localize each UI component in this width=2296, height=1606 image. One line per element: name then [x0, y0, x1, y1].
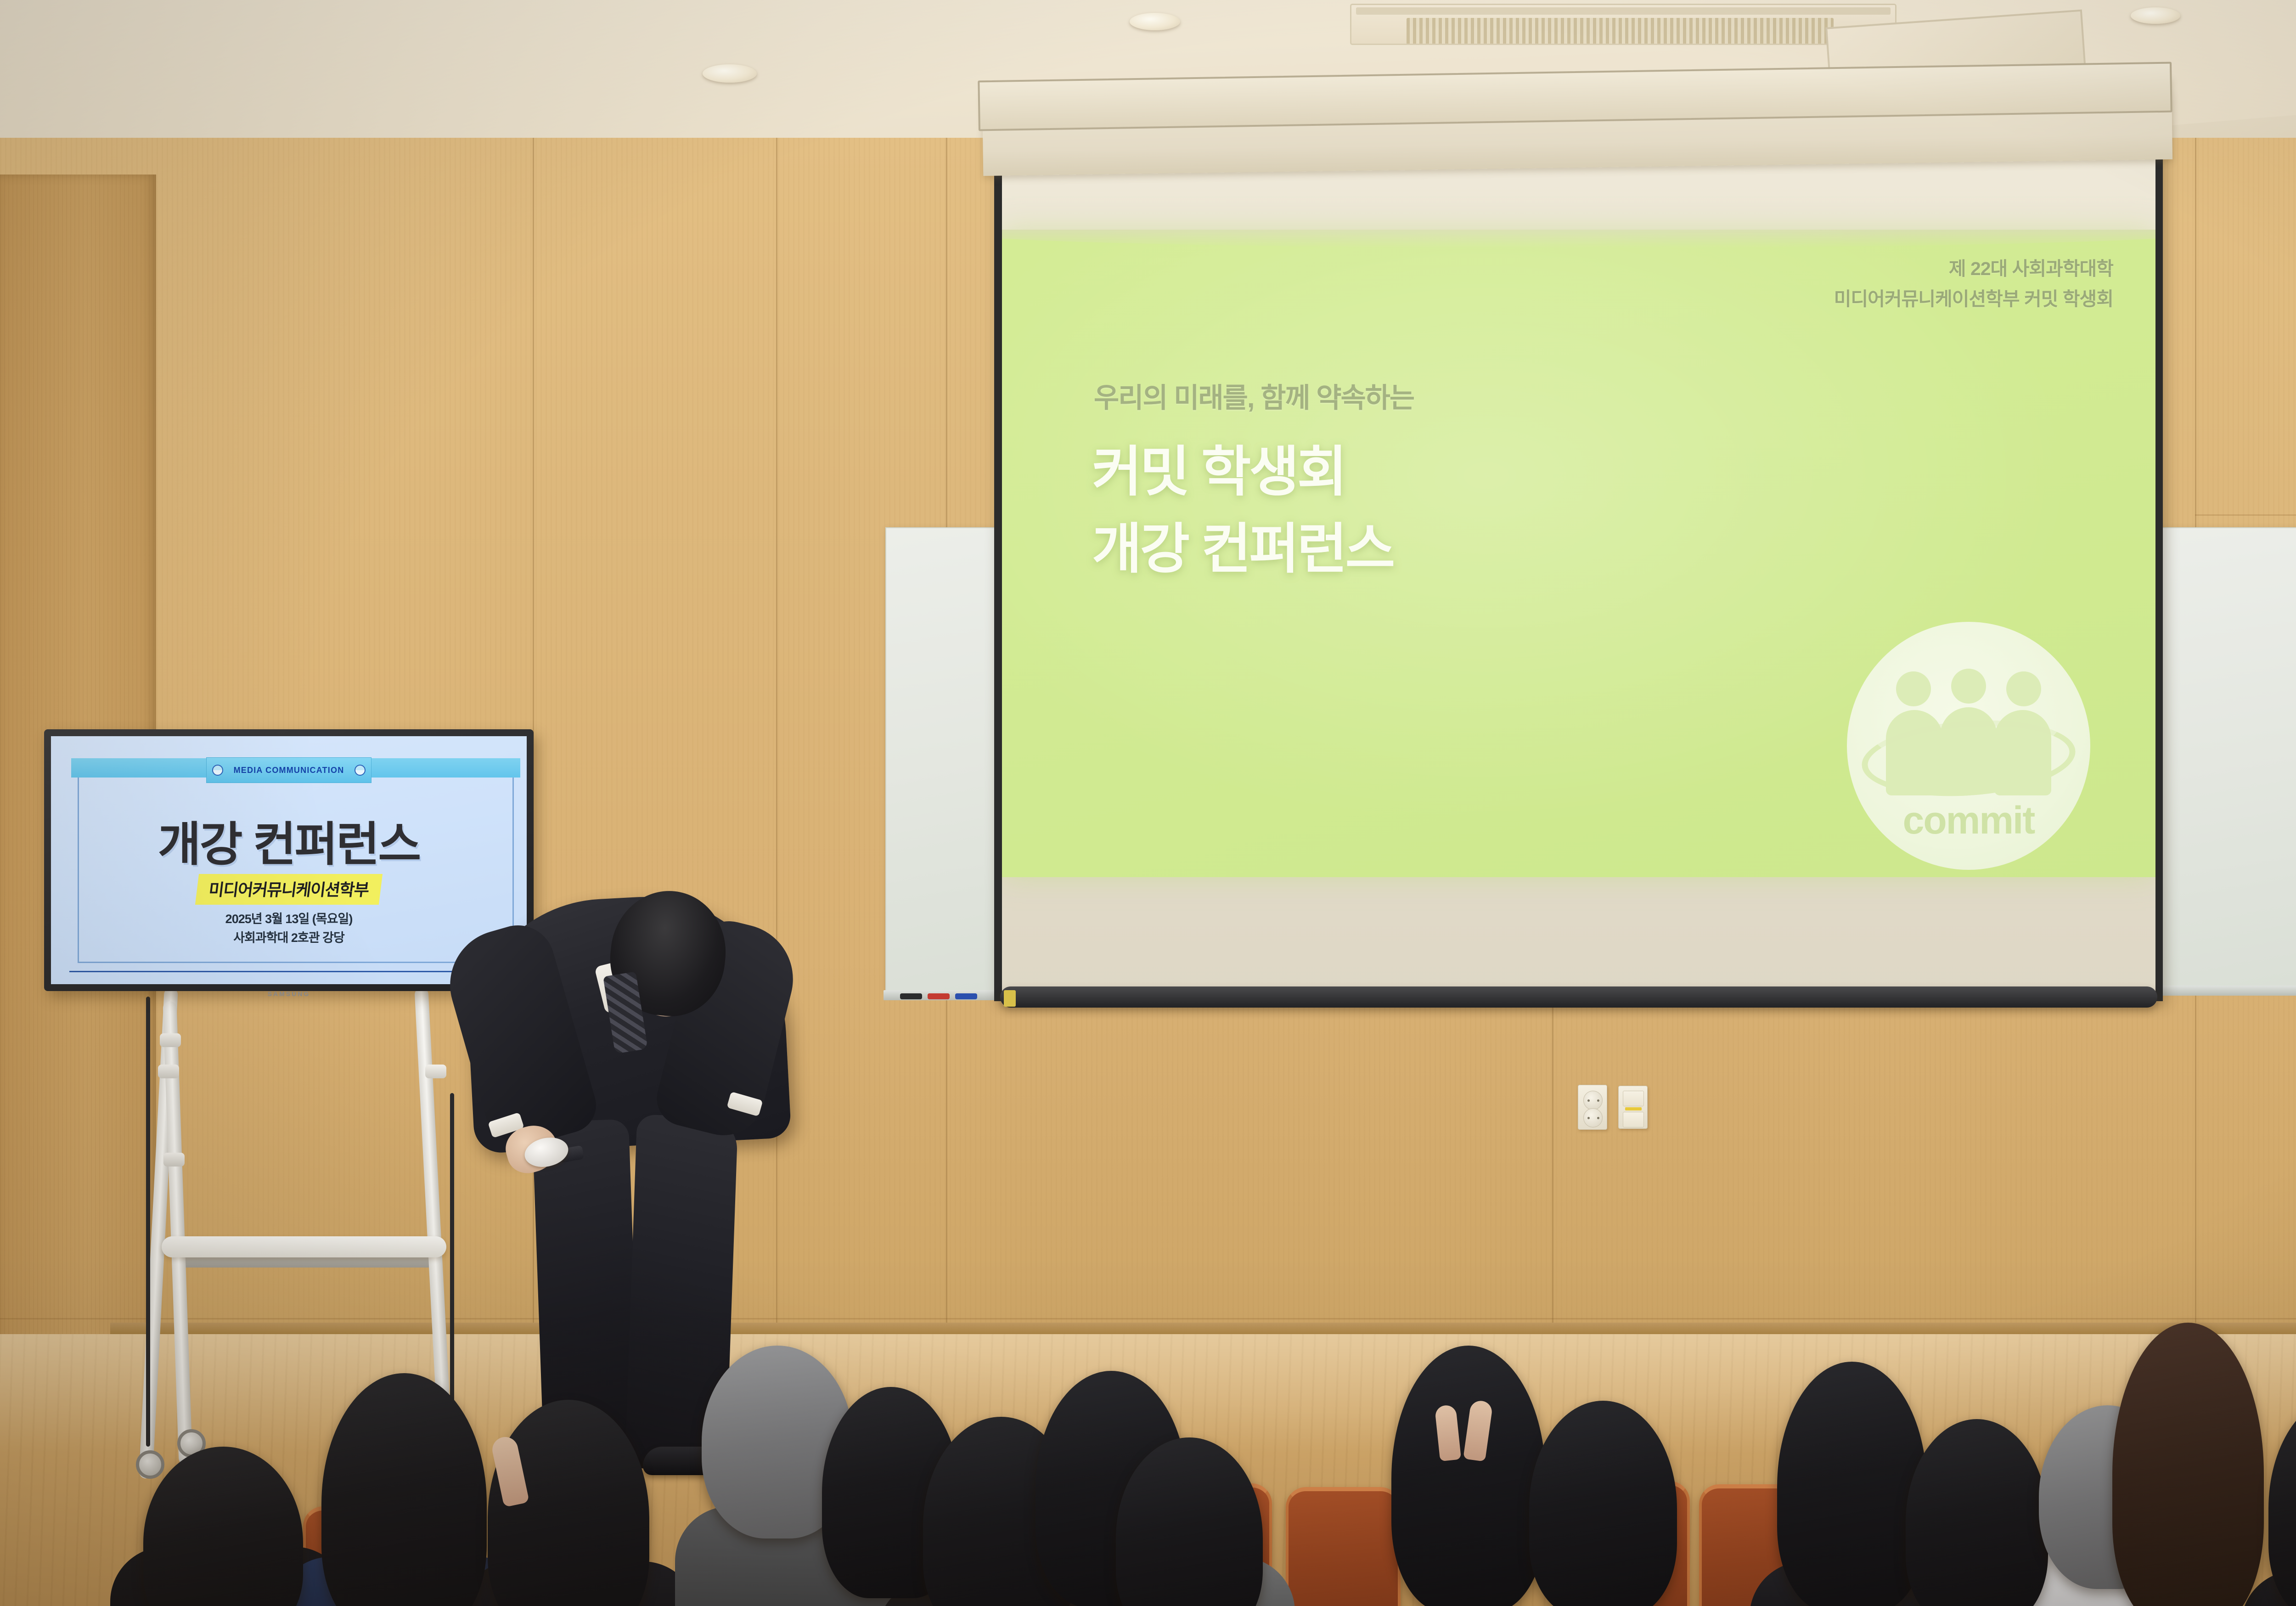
tv-brand-label: SAMSUNG — [268, 990, 310, 997]
downlight-icon — [703, 64, 757, 83]
tv-slide-location: 사회과학대 2호관 강당 — [51, 929, 527, 947]
power-outlet[interactable] — [1578, 1085, 1607, 1130]
ac-grille — [1407, 18, 1834, 45]
marker-icon — [955, 993, 977, 999]
projector-screen-bottom-bar — [1000, 986, 2157, 1008]
cart-caster-wheel — [136, 1450, 164, 1479]
wall-seam — [1552, 978, 1553, 1341]
marker-icon — [900, 993, 922, 999]
tv-monitor[interactable]: MEDIA COMMUNICATION 개강 컨퍼런스 미디어커뮤니케이션학부 … — [44, 729, 534, 991]
switch-key-bottom[interactable] — [1623, 1112, 1644, 1127]
logo-head-icon — [2006, 671, 2041, 706]
commit-logo: commit — [1847, 622, 2090, 870]
wall-seam-horizontal — [0, 1318, 2296, 1319]
projected-slide: 제 22대 사회과학대학 미디어커뮤니케이션학부 커밋 학생회 우리의 미래를,… — [1002, 230, 2155, 877]
cart-cable-clip — [160, 1033, 181, 1047]
tv-slide-department: 미디어커뮤니케이션학부 — [195, 874, 383, 905]
light-switch[interactable] — [1618, 1086, 1648, 1129]
tv-slide-meta: 2025년 3월 13일 (목요일) 사회과학대 2호관 강당 — [51, 910, 527, 947]
power-cable — [450, 1093, 454, 1414]
cart-shelf — [162, 1236, 446, 1257]
whiteboard-right — [2153, 527, 2296, 986]
tv-slide-department-wrap: 미디어커뮤니케이션학부 — [51, 874, 527, 905]
audience-head — [1529, 1401, 1677, 1606]
logo-head-icon — [1951, 669, 1986, 704]
screen-tag-icon — [1004, 990, 1016, 1007]
cart-cable-clip — [158, 1065, 179, 1078]
wall-seam-horizontal — [2195, 514, 2296, 516]
slide-kicker: 우리의 미래를, 함께 약속하는 — [1094, 376, 1414, 416]
socket-icon — [1583, 1091, 1603, 1110]
wall-seam — [776, 138, 777, 1341]
logo-head-icon — [1896, 671, 1931, 706]
slide-title: 커밋 학생회 개강 컨퍼런스 — [1092, 434, 1393, 588]
downlight-icon — [1130, 13, 1180, 30]
marker-icon — [928, 993, 950, 999]
switch-key-top[interactable] — [1623, 1091, 1644, 1106]
tv-banner-label: MEDIA COMMUNICATION — [234, 766, 344, 775]
whiteboard-marker-tray — [2151, 986, 2296, 996]
cart-cable-clip — [425, 1065, 446, 1078]
ceiling-air-conditioner — [1350, 4, 1896, 45]
slide-title-line2: 개강 컨퍼런스 — [1092, 511, 1393, 588]
auditorium-scene: 제 22대 사회과학대학 미디어커뮤니케이션학부 커밋 학생회 우리의 미래를,… — [0, 0, 2296, 1606]
tv-slide-topbar-left — [71, 758, 218, 778]
tv-slide-title: 개강 컨퍼런스 — [51, 807, 527, 874]
tv-slide-banner: MEDIA COMMUNICATION — [206, 757, 371, 783]
projector-screen-surface: 제 22대 사회과학대학 미디어커뮤니케이션학부 커밋 학생회 우리의 미래를,… — [1002, 110, 2155, 999]
screw-icon — [355, 765, 366, 776]
ac-louver — [1356, 7, 1891, 15]
slide-title-line1: 커밋 학생회 — [1092, 434, 1393, 511]
audience-head — [1777, 1362, 1927, 1606]
socket-icon — [1583, 1108, 1603, 1127]
logo-wordmark: commit — [1847, 798, 2090, 843]
switch-indicator-led — [1625, 1107, 1642, 1110]
power-cable — [146, 997, 150, 1447]
cart-cable-clip — [163, 1153, 185, 1166]
slide-organization: 제 22대 사회과학대학 미디어커뮤니케이션학부 커밋 학생회 — [1834, 254, 2113, 315]
tv-screen: MEDIA COMMUNICATION 개강 컨퍼런스 미디어커뮤니케이션학부 … — [51, 736, 527, 984]
slide-org-line1: 제 22대 사회과학대학 — [1834, 254, 2113, 284]
downlight-icon — [2131, 7, 2180, 24]
tv-slide-date: 2025년 3월 13일 (목요일) — [51, 910, 527, 929]
audience-head — [1391, 1346, 1546, 1606]
tv-slide-rule — [69, 971, 515, 972]
tv-slide-topbar-right — [369, 758, 520, 778]
slide-org-line2: 미디어커뮤니케이션학부 커밋 학생회 — [1834, 284, 2113, 314]
screw-icon — [212, 765, 223, 776]
